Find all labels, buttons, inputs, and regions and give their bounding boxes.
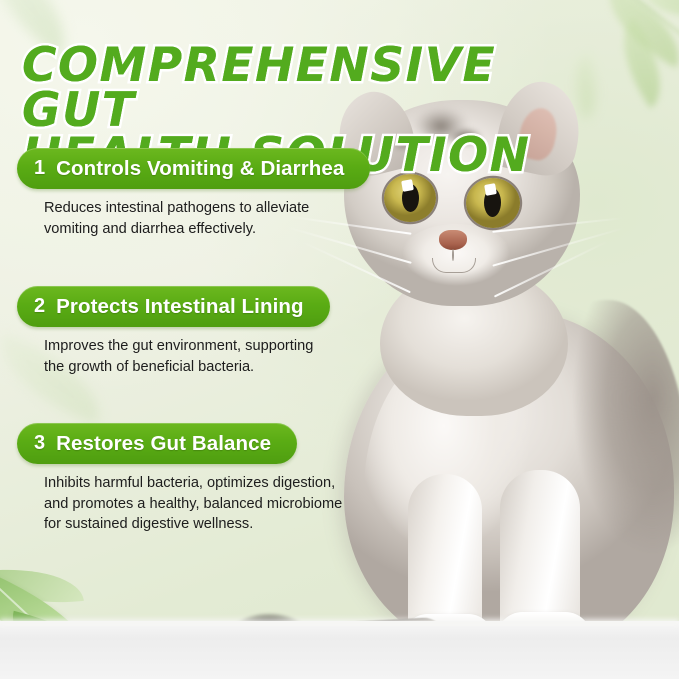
feature-description: Reduces intestinal pathogens to alleviat… [44,198,412,239]
feature-pill-1[interactable]: 1 Controls Vomiting & Diarrhea [17,148,370,189]
feature-number: 3 [34,432,45,455]
feature-title: Protects Intestinal Lining [56,295,304,319]
feature-description: Inhibits harmful bacteria, optimizes dig… [44,473,412,535]
feature-title: Controls Vomiting & Diarrhea [56,157,344,181]
feature-number: 2 [34,295,45,318]
feature-block: 1 Controls Vomiting & Diarrhea Reduces i… [0,148,430,239]
product-infographic-poster: COMPREHENSIVE GUT HEALTH SOLUTION COMPRE… [0,0,679,679]
feature-pill-2[interactable]: 2 Protects Intestinal Lining [17,286,330,327]
feature-block: 3 Restores Gut Balance Inhibits harmful … [0,423,430,535]
table-surface [0,621,679,679]
feature-number: 1 [34,157,45,180]
feature-pill-3[interactable]: 3 Restores Gut Balance [17,423,297,464]
feature-title: Restores Gut Balance [56,432,271,456]
feature-description: Improves the gut environment, supporting… [44,336,412,377]
feature-block: 2 Protects Intestinal Lining Improves th… [0,286,430,377]
